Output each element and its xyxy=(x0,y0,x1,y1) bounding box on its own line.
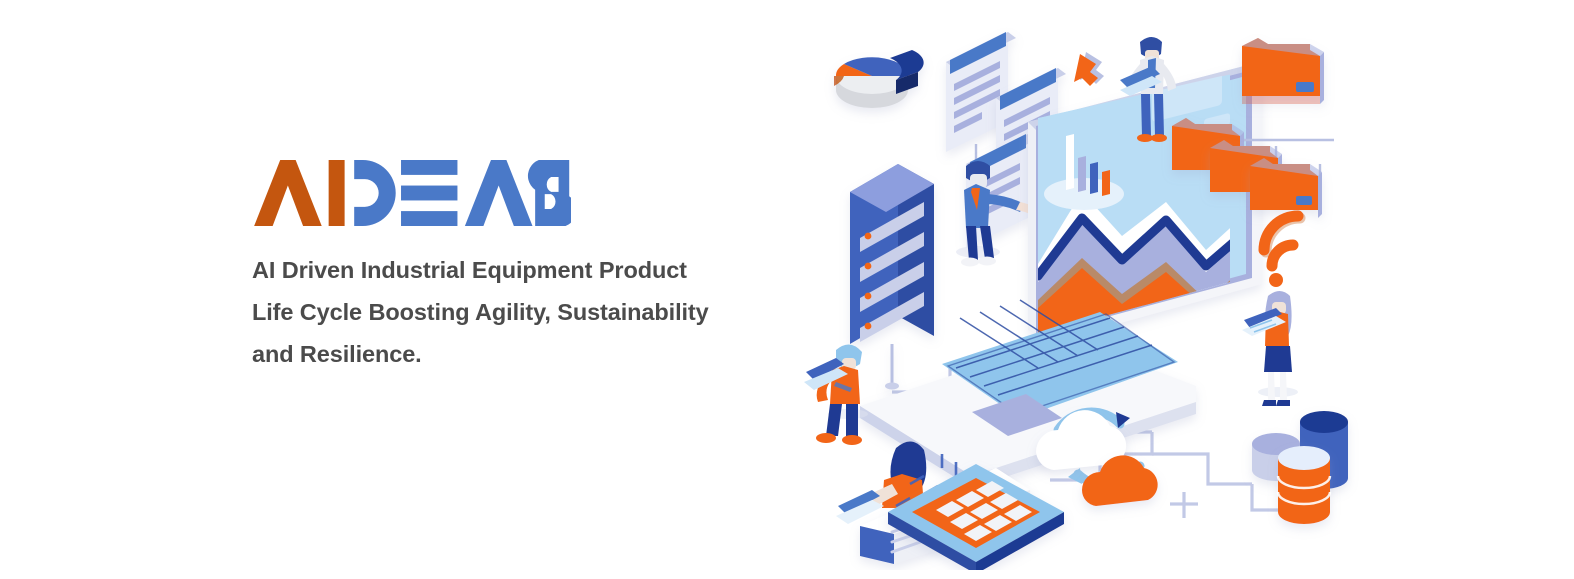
logo-letter-e-blue xyxy=(401,160,457,226)
aideas-logo: AIDEAS xyxy=(252,160,571,226)
logo-letter-i-orange xyxy=(329,160,345,226)
person-woman-laptop xyxy=(1242,291,1298,406)
logo-letter-a-blue xyxy=(465,160,533,226)
database-stack xyxy=(1252,411,1348,524)
brand-block: AIDEAS xyxy=(252,160,772,375)
logo-letter-d-blue xyxy=(354,160,396,226)
folder-root xyxy=(1242,38,1324,104)
tagline-line-3: and Resilience. xyxy=(252,341,422,367)
cursor-arrow xyxy=(1074,52,1104,86)
wifi-icon xyxy=(1264,216,1300,287)
logo-letter-a-orange xyxy=(254,160,322,226)
tagline-line-2: Life Cycle Boosting Agility, Sustainabil… xyxy=(252,299,709,325)
folder-child-3 xyxy=(1250,158,1322,218)
server-rack xyxy=(850,164,934,390)
page-tagline: AI Driven Industrial Equipment Product L… xyxy=(252,250,757,375)
hero-banner: AIDEAS xyxy=(0,0,1574,579)
person-walking xyxy=(804,344,868,445)
pie-chart-3d xyxy=(834,50,924,108)
hero-illustration: Isometric illustration of a laptop with … xyxy=(800,14,1380,570)
tagline-line-1: AI Driven Industrial Equipment Product xyxy=(252,257,687,283)
logo-letter-s-blue xyxy=(528,160,571,226)
